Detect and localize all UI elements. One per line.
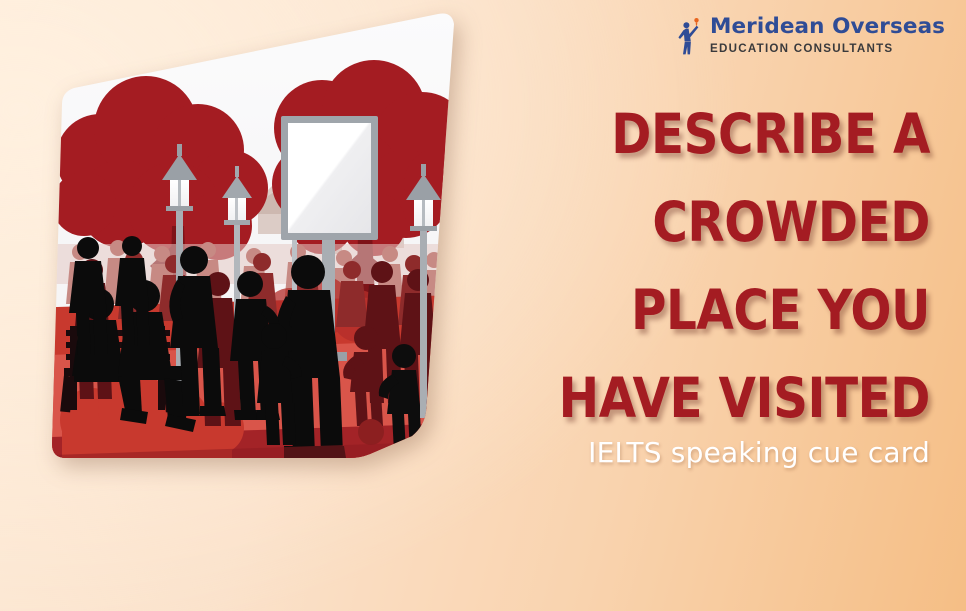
title-line: DESCRIBE A: [552, 90, 930, 178]
title-line: PLACE YOU: [552, 266, 930, 354]
brand-name: Meridean Overseas: [710, 14, 945, 39]
brand-wordmark: Meridean Overseas EDUCATION CONSULTANTS …: [710, 16, 966, 57]
brand-logo: Meridean Overseas EDUCATION CONSULTANTS …: [678, 16, 966, 57]
page-subtitle: IELTS speaking cue card: [500, 436, 930, 469]
torch-bearer-icon: [678, 17, 704, 55]
brand-tagline: EDUCATION CONSULTANTS: [710, 42, 893, 55]
crowded-park-illustration: [22, 8, 492, 478]
page-title: DESCRIBE A CROWDED PLACE YOU HAVE VISITE…: [500, 90, 930, 442]
title-line: HAVE VISITED: [552, 354, 930, 442]
ball: [358, 419, 384, 445]
title-line: CROWDED: [552, 178, 930, 266]
